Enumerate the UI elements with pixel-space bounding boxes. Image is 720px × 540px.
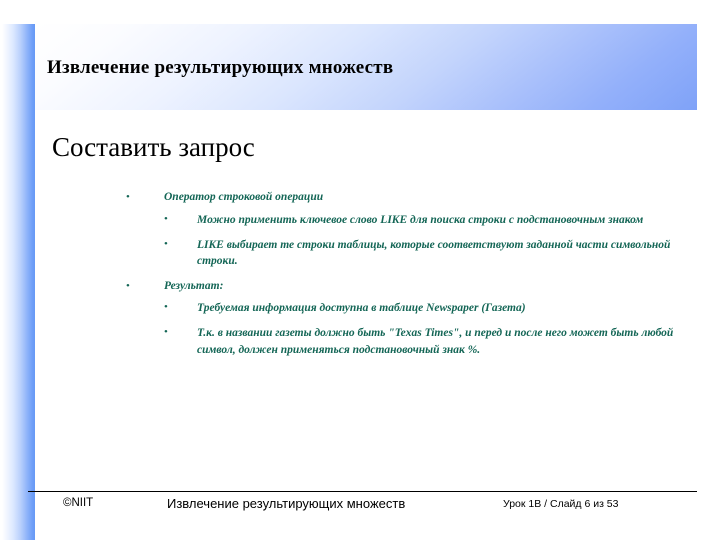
presentation-slide: Извлечение результирующих множеств Соста… [0, 0, 720, 540]
slide-heading: Составить запрос [52, 132, 255, 163]
bullet-item-level2: • Можно применить ключевое слово LIKE дл… [126, 212, 692, 228]
bullet-text: LIKE выбирает те строки таблицы, которые… [197, 237, 692, 270]
bullet-item-level2: • Т.к. в названии газеты должно быть "Te… [126, 325, 692, 358]
bullet-text: Требуемая информация доступна в таблице … [197, 300, 692, 316]
bullet-item-level2: • LIKE выбирает те строки таблицы, котор… [126, 237, 692, 270]
bullet-marker-icon: • [164, 213, 168, 227]
bullet-text: Можно применить ключевое слово LIKE для … [197, 212, 692, 228]
left-accent-bar [2, 24, 35, 540]
bullet-text: Оператор строковой операции [164, 190, 692, 206]
bullet-item-level1: • Результат: [126, 279, 692, 295]
bullet-list: • Оператор строковой операции • Можно пр… [126, 190, 692, 367]
slide-header-title: Извлечение результирующих множеств [47, 57, 393, 79]
bullet-marker-icon: • [164, 238, 168, 252]
bullet-marker-icon: • [164, 326, 168, 340]
bullet-item-level1: • Оператор строковой операции [126, 190, 692, 206]
bullet-marker-icon: • [164, 301, 168, 315]
footer-slide-title: Извлечение результирующих множеств [167, 496, 405, 511]
bullet-marker-icon: • [126, 191, 130, 205]
footer-copyright: ©NIIT [63, 497, 93, 509]
bullet-item-level2: • Требуемая информация доступна в таблиц… [126, 300, 692, 316]
bullet-marker-icon: • [126, 280, 130, 294]
footer-divider [28, 491, 697, 492]
bullet-text: Результат: [164, 279, 692, 295]
bullet-text: Т.к. в названии газеты должно быть "Texa… [197, 325, 692, 358]
footer-slide-number: Урок 1В / Слайд 6 из 53 [503, 498, 618, 510]
